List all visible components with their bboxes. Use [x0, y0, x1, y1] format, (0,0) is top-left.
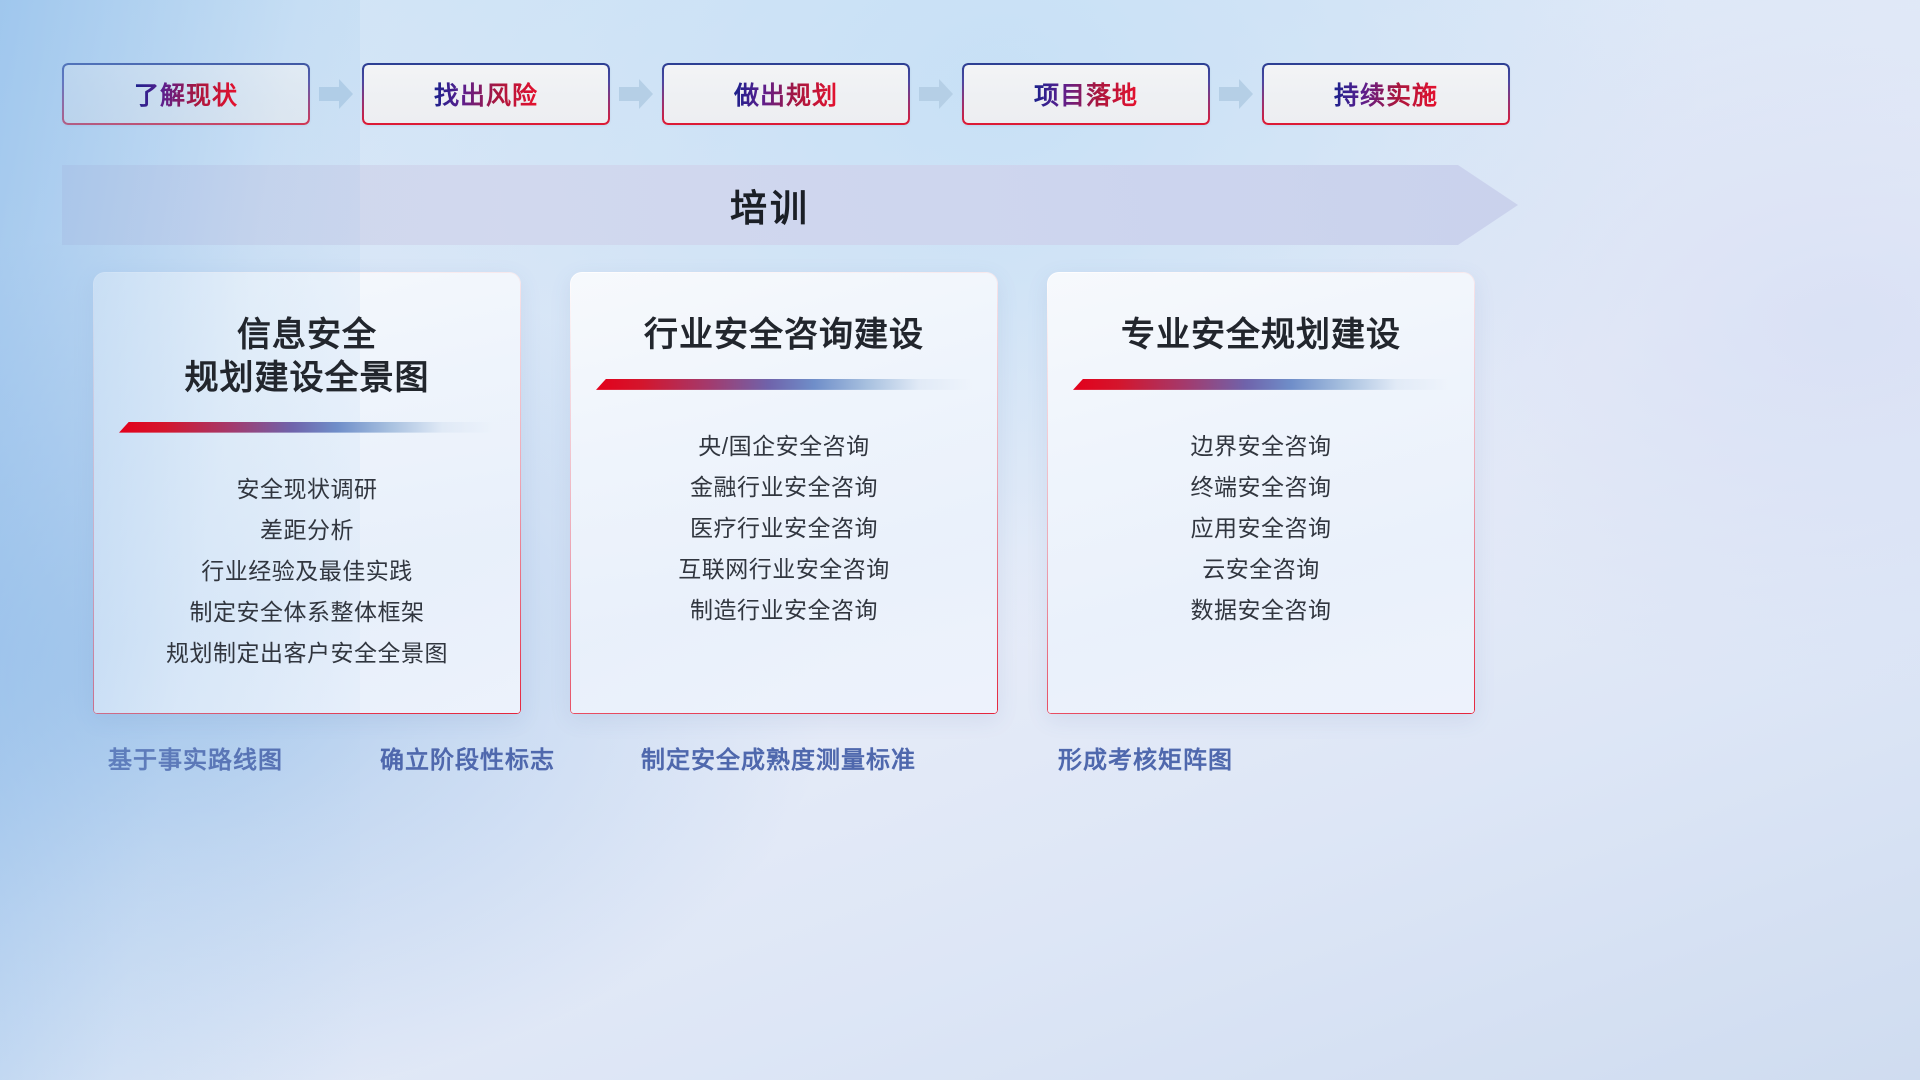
process-step-row: 了解现状 找出风险 做出规划 项目落地 [62, 63, 1512, 125]
arrow-right-icon [610, 63, 662, 125]
step-box-1[interactable]: 了解现状 [62, 63, 310, 125]
step-label: 找出风险 [434, 76, 538, 112]
card-title-line: 行业安全咨询建设 [586, 314, 982, 357]
card-title-line: 规划建设全景图 [109, 357, 505, 400]
step-label: 做出规划 [734, 76, 838, 112]
step-box-5[interactable]: 持续实施 [1262, 63, 1510, 125]
step-box-2[interactable]: 找出风险 [362, 63, 610, 125]
card-item-list: 边界安全咨询 终端安全咨询 应用安全咨询 云安全咨询 数据安全咨询 [1047, 426, 1475, 631]
list-item: 差距分析 [93, 510, 521, 551]
list-item: 互联网行业安全咨询 [570, 549, 998, 590]
list-item: 安全现状调研 [93, 469, 521, 510]
training-banner: 培训 [62, 165, 1518, 245]
footer-caption: 形成考核矩阵图 [1058, 740, 1233, 775]
list-item: 终端安全咨询 [1047, 467, 1475, 508]
list-item: 行业经验及最佳实践 [93, 551, 521, 592]
footer-caption: 基于事实路线图 [108, 740, 283, 775]
step-label: 项目落地 [1034, 76, 1138, 112]
list-item: 边界安全咨询 [1047, 426, 1475, 467]
card-1[interactable]: 信息安全 规划建设全景图 安全现状调研 差距分析 行业经验及最佳实践 制定安全体… [93, 272, 521, 714]
arrow-right-icon [1210, 63, 1262, 125]
card-divider [1073, 379, 1449, 390]
arrow-right-icon [910, 63, 962, 125]
slide-canvas: 了解现状 找出风险 做出规划 项目落地 [0, 0, 1920, 1080]
card-row: 信息安全 规划建设全景图 安全现状调研 差距分析 行业经验及最佳实践 制定安全体… [93, 272, 1475, 714]
card-title: 专业安全规划建设 [1047, 314, 1475, 357]
card-title: 信息安全 规划建设全景图 [93, 314, 521, 400]
list-item: 医疗行业安全咨询 [570, 508, 998, 549]
footer-caption-row: 基于事实路线图 确立阶段性标志 制定安全成熟度测量标准 形成考核矩阵图 [0, 740, 1920, 790]
card-title-line: 专业安全规划建设 [1063, 314, 1459, 357]
list-item: 数据安全咨询 [1047, 590, 1475, 631]
card-divider [596, 379, 972, 390]
step-label: 了解现状 [134, 76, 238, 112]
card-title-line: 信息安全 [109, 314, 505, 357]
arrow-right-icon [310, 63, 362, 125]
list-item: 规划制定出客户安全全景图 [93, 633, 521, 674]
list-item: 央/国企安全咨询 [570, 426, 998, 467]
list-item: 应用安全咨询 [1047, 508, 1475, 549]
list-item: 制造行业安全咨询 [570, 590, 998, 631]
list-item: 制定安全体系整体框架 [93, 592, 521, 633]
list-item: 金融行业安全咨询 [570, 467, 998, 508]
footer-caption: 确立阶段性标志 [380, 740, 555, 775]
banner-title: 培训 [62, 165, 1518, 245]
step-label: 持续实施 [1334, 76, 1438, 112]
card-title: 行业安全咨询建设 [570, 314, 998, 357]
card-3[interactable]: 专业安全规划建设 边界安全咨询 终端安全咨询 应用安全咨询 云安全咨询 数据安全… [1047, 272, 1475, 714]
step-box-3[interactable]: 做出规划 [662, 63, 910, 125]
step-box-4[interactable]: 项目落地 [962, 63, 1210, 125]
list-item: 云安全咨询 [1047, 549, 1475, 590]
card-item-list: 央/国企安全咨询 金融行业安全咨询 医疗行业安全咨询 互联网行业安全咨询 制造行… [570, 426, 998, 631]
card-2[interactable]: 行业安全咨询建设 央/国企安全咨询 金融行业安全咨询 医疗行业安全咨询 互联网行… [570, 272, 998, 714]
card-item-list: 安全现状调研 差距分析 行业经验及最佳实践 制定安全体系整体框架 规划制定出客户… [93, 469, 521, 674]
card-divider [119, 422, 495, 433]
footer-caption: 制定安全成熟度测量标准 [641, 740, 916, 775]
